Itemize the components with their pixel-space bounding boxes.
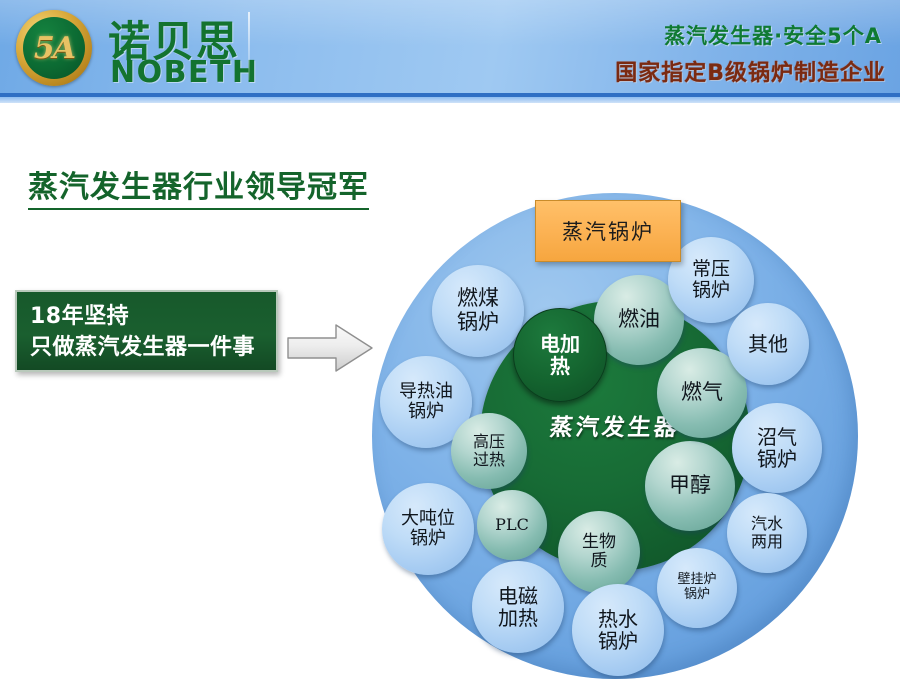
diagram-node-label-line: 高压: [473, 433, 505, 451]
diagram-node-label: 沼气锅炉: [757, 426, 797, 471]
logo-5a-monogram: 5A: [16, 10, 92, 86]
diagram-node[interactable]: 电磁加热: [472, 561, 564, 653]
diagram-node-label-line: 汽水: [751, 515, 783, 533]
diagram-node[interactable]: 热水锅炉: [572, 584, 664, 676]
diagram-node[interactable]: 大吨位锅炉: [382, 483, 474, 575]
diagram-node[interactable]: 电加热: [513, 308, 607, 402]
diagram-node[interactable]: 甲醇: [645, 441, 735, 531]
callout-box: 18年坚持 只做蒸汽发生器一件事: [15, 290, 278, 372]
diagram-node-label-line: 加热: [498, 607, 538, 629]
diagram-banner-label: 蒸汽锅炉: [562, 216, 654, 246]
product-ecosystem-diagram: 蒸汽发生器 蒸汽锅炉 电加热燃煤锅炉导热油锅炉高压过热大吨位锅炉PLC电磁加热生…: [372, 193, 858, 679]
diagram-node-label-line: 锅炉: [399, 402, 453, 422]
header-divider: [248, 12, 250, 80]
diagram-banner-steam-boiler[interactable]: 蒸汽锅炉: [535, 200, 681, 262]
diagram-node-label-line: 常压: [692, 259, 730, 280]
diagram-node-label-line: 过热: [473, 451, 505, 469]
diagram-node-label: 甲醇: [669, 474, 711, 498]
page-title: 蒸汽发生器行业领导冠军: [28, 162, 369, 210]
diagram-node-label-line: 锅炉: [757, 448, 797, 470]
diagram-node-label: 大吨位锅炉: [401, 509, 455, 549]
diagram-node-label: 电加热: [540, 333, 580, 378]
diagram-node[interactable]: 其他: [727, 303, 809, 385]
header-slogan-secondary: 国家指定B级锅炉制造企业: [615, 55, 886, 87]
diagram-node-label-line: 锅炉: [401, 529, 455, 549]
diagram-node-label-line: 其他: [748, 333, 788, 355]
diagram-node[interactable]: 高压过热: [451, 413, 527, 489]
diagram-node-label: 导热油锅炉: [399, 382, 453, 422]
flow-arrow-right-icon: [286, 322, 374, 374]
diagram-node-label: 燃气: [681, 381, 723, 405]
diagram-node-label-line: 锅炉: [677, 588, 716, 603]
callout-line-1: 18年坚持: [30, 301, 276, 332]
diagram-node-label-line: 两用: [751, 533, 783, 551]
diagram-node-label-line: 电加: [540, 333, 580, 355]
diagram-node-label: 高压过热: [473, 433, 505, 469]
diagram-node-label-line: 热水: [598, 608, 638, 630]
diagram-node-label-line: 燃气: [681, 381, 723, 405]
diagram-node[interactable]: PLC: [477, 490, 547, 560]
diagram-node-label: 其他: [748, 333, 788, 355]
callout-line-2: 只做蒸汽发生器一件事: [30, 332, 276, 363]
site-header: 5A 诺贝思 NOBETH 蒸汽发生器·安全5个A 国家指定B级锅炉制造企业: [0, 0, 900, 93]
diagram-node-label: 电磁加热: [498, 585, 538, 630]
diagram-node-label-line: 热: [540, 355, 580, 377]
brand-name-english: NOBETH: [110, 55, 259, 90]
diagram-node-label-line: 壁挂炉: [677, 573, 716, 588]
diagram-node-label-line: 大吨位: [401, 509, 455, 529]
diagram-node[interactable]: 壁挂炉锅炉: [657, 548, 737, 628]
diagram-node-label: 燃油: [618, 308, 660, 332]
diagram-node-label: 汽水两用: [751, 515, 783, 551]
header-slogan-primary: 蒸汽发生器·安全5个A: [664, 20, 882, 50]
diagram-node-label-line: 沼气: [757, 426, 797, 448]
diagram-node-label-line: 生物: [582, 533, 616, 552]
diagram-node-label: 常压锅炉: [692, 259, 730, 302]
diagram-node[interactable]: 燃煤锅炉: [432, 265, 524, 357]
diagram-node[interactable]: 沼气锅炉: [732, 403, 822, 493]
diagram-node-label-line: 电磁: [498, 585, 538, 607]
diagram-node-label-line: 锅炉: [692, 280, 730, 301]
diagram-node-label: 燃煤锅炉: [457, 287, 499, 334]
diagram-node-label-line: 导热油: [399, 382, 453, 402]
diagram-node-label-line: 燃煤: [457, 287, 499, 311]
diagram-node-label-line: 甲醇: [669, 474, 711, 498]
brand-logo[interactable]: 5A: [16, 10, 92, 86]
diagram-node-label-line: 锅炉: [598, 630, 638, 652]
diagram-node[interactable]: 生物质: [558, 511, 640, 593]
diagram-node-label-line: PLC: [495, 516, 529, 534]
diagram-node[interactable]: 汽水两用: [727, 493, 807, 573]
diagram-node-label-line: 燃油: [618, 308, 660, 332]
header-bottom-rule-light: [0, 97, 900, 103]
diagram-node-label: PLC: [495, 516, 529, 534]
diagram-node-label-line: 质: [582, 552, 616, 571]
diagram-node-label: 热水锅炉: [598, 608, 638, 653]
diagram-node-label: 壁挂炉锅炉: [677, 573, 716, 602]
diagram-node-label-line: 锅炉: [457, 311, 499, 335]
diagram-node-label: 生物质: [582, 533, 616, 571]
